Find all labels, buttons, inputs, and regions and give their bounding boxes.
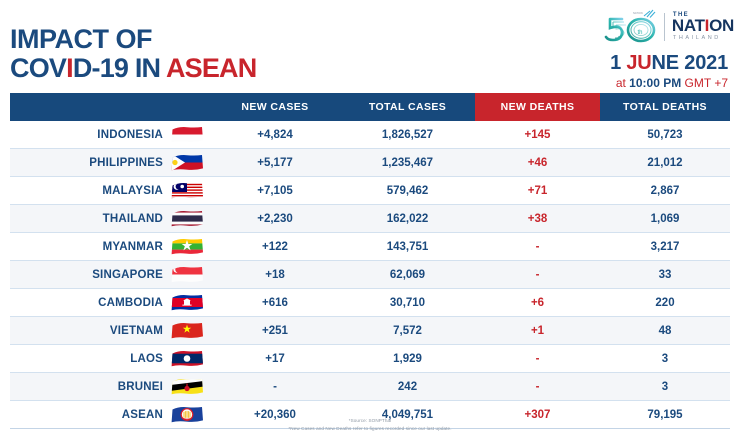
cell-total-deaths: 220 bbox=[600, 289, 730, 317]
column-header-total-cases: TOTAL CASES bbox=[340, 93, 475, 121]
footnote-definition: *New Cases and New Deaths refer to figur… bbox=[0, 425, 740, 433]
footnote-source: *Source: SONPThai bbox=[0, 417, 740, 425]
country-label: INDONESIA bbox=[97, 129, 163, 141]
cell-new-cases: +17 bbox=[210, 345, 340, 373]
table-row: LAOS+171,929-3 bbox=[10, 345, 730, 373]
flag-myanmar-icon bbox=[170, 237, 204, 256]
table-row: MYANMAR+122143,751-3,217 bbox=[10, 233, 730, 261]
cell-country: INDONESIA bbox=[10, 121, 210, 149]
date-block: 1 JUNE 2021 at 10:00 PM GMT +7 bbox=[610, 52, 728, 90]
flag-indonesia-icon bbox=[170, 125, 204, 144]
cell-country: PHILIPPINES bbox=[10, 149, 210, 177]
cell-total-cases: 1,826,527 bbox=[340, 121, 475, 149]
country-label: MYANMAR bbox=[103, 241, 163, 253]
table-row: PHILIPPINES+5,1771,235,467+4621,012 bbox=[10, 149, 730, 177]
header: IMPACT OF COVID-19 IN ASEAN bbox=[0, 0, 740, 92]
report-time-at: at bbox=[616, 76, 629, 90]
cell-country: SINGAPORE bbox=[10, 261, 210, 289]
svg-text:NATION: NATION bbox=[633, 11, 643, 15]
cell-total-cases: 143,751 bbox=[340, 233, 475, 261]
cell-country: VIETNAM bbox=[10, 317, 210, 345]
cell-country: THAILAND bbox=[10, 205, 210, 233]
table-row: CAMBODIA+61630,710+6220 bbox=[10, 289, 730, 317]
cell-new-cases: +616 bbox=[210, 289, 340, 317]
cell-new-deaths: - bbox=[475, 373, 600, 401]
cell-new-deaths: - bbox=[475, 233, 600, 261]
cell-country: BRUNEI bbox=[10, 373, 210, 401]
page-title-covid-prefix: COV bbox=[10, 53, 66, 83]
cell-total-deaths: 1,069 bbox=[600, 205, 730, 233]
cell-new-deaths: +6 bbox=[475, 289, 600, 317]
report-date-day: 1 bbox=[610, 52, 626, 74]
cell-country: LAOS bbox=[10, 345, 210, 373]
page-title-asean: ASEAN bbox=[166, 53, 257, 83]
cell-new-cases: +18 bbox=[210, 261, 340, 289]
cell-total-cases: 1,929 bbox=[340, 345, 475, 373]
cell-total-cases: 242 bbox=[340, 373, 475, 401]
column-header-total-deaths: TOTAL DEATHS bbox=[600, 93, 730, 121]
table-row: SINGAPORE+1862,069-33 bbox=[10, 261, 730, 289]
cell-new-deaths: +38 bbox=[475, 205, 600, 233]
flag-philippines-icon bbox=[170, 153, 204, 172]
country-label: BRUNEI bbox=[118, 381, 163, 393]
cell-new-cases: - bbox=[210, 373, 340, 401]
cell-new-deaths: +145 bbox=[475, 121, 600, 149]
cell-new-deaths: +71 bbox=[475, 177, 600, 205]
report-date: 1 JUNE 2021 bbox=[610, 52, 728, 75]
flag-malaysia-icon bbox=[170, 181, 204, 200]
cell-new-cases: +251 bbox=[210, 317, 340, 345]
cell-new-cases: +7,105 bbox=[210, 177, 340, 205]
svg-text:th: th bbox=[637, 30, 642, 36]
column-header-new-deaths: NEW DEATHS bbox=[475, 93, 600, 121]
cell-new-cases: +122 bbox=[210, 233, 340, 261]
logo-divider bbox=[664, 13, 665, 41]
report-date-month-b: NE bbox=[652, 52, 685, 74]
flag-cambodia-icon bbox=[170, 293, 204, 312]
cell-new-deaths: +1 bbox=[475, 317, 600, 345]
cell-new-cases: +2,230 bbox=[210, 205, 340, 233]
covid-stats-table: NEW CASES TOTAL CASES NEW DEATHS TOTAL D… bbox=[10, 93, 730, 429]
report-date-month-a: JU bbox=[626, 52, 651, 74]
page-title-line2: COVID-19 IN ASEAN bbox=[10, 54, 256, 83]
flag-brunei-icon bbox=[170, 377, 204, 396]
footnotes: *Source: SONPThai *New Cases and New Dea… bbox=[0, 417, 740, 433]
cell-new-cases: +5,177 bbox=[210, 149, 340, 177]
country-label: CAMBODIA bbox=[98, 297, 163, 309]
table-body: INDONESIA+4,8241,826,527+14550,723PHILIP… bbox=[10, 121, 730, 429]
table-row: BRUNEI-242-3 bbox=[10, 373, 730, 401]
table-row: THAILAND+2,230162,022+381,069 bbox=[10, 205, 730, 233]
table-row: MALAYSIA+7,105579,462+712,867 bbox=[10, 177, 730, 205]
logo-wordmark: THE NATION THAILAND bbox=[672, 12, 734, 41]
cell-country: CAMBODIA bbox=[10, 289, 210, 317]
country-label: MALAYSIA bbox=[102, 185, 163, 197]
flag-thailand-icon bbox=[170, 209, 204, 228]
cell-total-deaths: 3 bbox=[600, 345, 730, 373]
cell-new-cases: +4,824 bbox=[210, 121, 340, 149]
report-time-timezone: GMT +7 bbox=[681, 76, 728, 90]
country-label: VIETNAM bbox=[110, 325, 163, 337]
cell-new-deaths: +46 bbox=[475, 149, 600, 177]
cell-total-deaths: 50,723 bbox=[600, 121, 730, 149]
fiftieth-anniversary-icon: th NATION bbox=[600, 7, 662, 47]
logo-nation-a: NAT bbox=[672, 16, 705, 35]
cell-total-deaths: 21,012 bbox=[600, 149, 730, 177]
infographic-root: IMPACT OF COVID-19 IN ASEAN bbox=[0, 0, 740, 436]
cell-new-deaths: - bbox=[475, 261, 600, 289]
cell-total-cases: 162,022 bbox=[340, 205, 475, 233]
page-title-covid-suffix: D-19 IN bbox=[73, 53, 166, 83]
logo-nation-b: ON bbox=[709, 16, 734, 35]
column-header-new-cases: NEW CASES bbox=[210, 93, 340, 121]
cell-total-deaths: 2,867 bbox=[600, 177, 730, 205]
column-header-country bbox=[10, 93, 210, 121]
table-row: INDONESIA+4,8241,826,527+14550,723 bbox=[10, 121, 730, 149]
flag-laos-icon bbox=[170, 349, 204, 368]
cell-total-cases: 1,235,467 bbox=[340, 149, 475, 177]
cell-total-cases: 579,462 bbox=[340, 177, 475, 205]
flag-vietnam-icon bbox=[170, 321, 204, 340]
cell-total-cases: 30,710 bbox=[340, 289, 475, 317]
country-label: THAILAND bbox=[103, 213, 163, 225]
logo-nation-text: NATION bbox=[672, 18, 734, 34]
table-header-row: NEW CASES TOTAL CASES NEW DEATHS TOTAL D… bbox=[10, 93, 730, 121]
flag-singapore-icon bbox=[170, 265, 204, 284]
page-title-line1: IMPACT OF bbox=[10, 25, 256, 54]
country-label: SINGAPORE bbox=[92, 269, 163, 281]
cell-total-cases: 62,069 bbox=[340, 261, 475, 289]
report-time-value: 10:00 PM bbox=[629, 76, 681, 90]
cell-total-deaths: 3,217 bbox=[600, 233, 730, 261]
cell-new-deaths: - bbox=[475, 345, 600, 373]
table-row: VIETNAM+2517,572+148 bbox=[10, 317, 730, 345]
page-title-covid-i: I bbox=[66, 53, 73, 83]
country-label: LAOS bbox=[130, 353, 163, 365]
cell-total-deaths: 33 bbox=[600, 261, 730, 289]
cell-country: MALAYSIA bbox=[10, 177, 210, 205]
report-date-year: 2021 bbox=[684, 52, 728, 74]
page-title: IMPACT OF COVID-19 IN ASEAN bbox=[10, 25, 256, 83]
logo-thailand-text: THAILAND bbox=[673, 35, 734, 41]
cell-total-cases: 7,572 bbox=[340, 317, 475, 345]
report-time: at 10:00 PM GMT +7 bbox=[610, 76, 728, 90]
country-label: PHILIPPINES bbox=[89, 157, 163, 169]
cell-total-deaths: 48 bbox=[600, 317, 730, 345]
cell-country: MYANMAR bbox=[10, 233, 210, 261]
nation-thailand-logo: th NATION THE NATION THAILAND bbox=[600, 6, 734, 48]
cell-total-deaths: 3 bbox=[600, 373, 730, 401]
